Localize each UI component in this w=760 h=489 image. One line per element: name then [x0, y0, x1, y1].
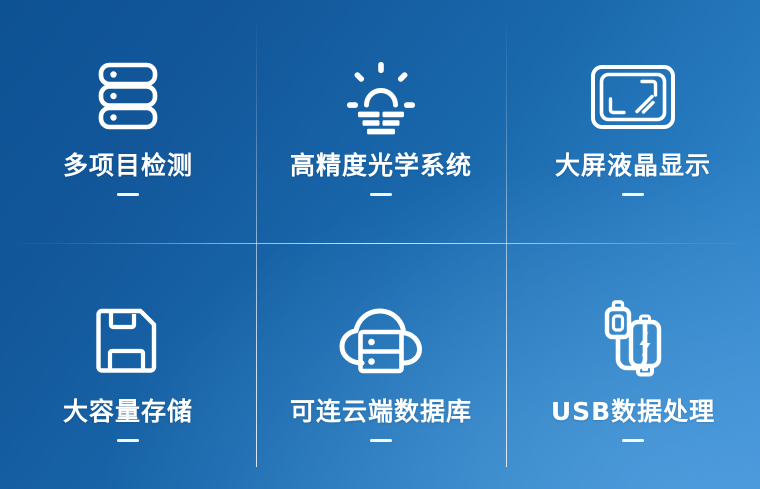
feature-underline [117, 439, 139, 442]
feature-label: 高精度光学系统 [290, 153, 472, 178]
feature-cell-cloud-database[interactable]: 可连云端数据库 [256, 243, 506, 489]
floppy-disk-icon [85, 297, 171, 383]
sun-optics-icon [338, 53, 424, 139]
cloud-database-icon [331, 297, 431, 383]
feature-banner: 多项目检测 [0, 0, 760, 489]
feature-underline [370, 193, 392, 196]
feature-cell-usb-data-processing[interactable]: USB数据处理 [506, 243, 760, 489]
monitor-screen-icon [585, 53, 681, 139]
feature-grid: 多项目检测 [0, 0, 760, 489]
server-stack-icon [85, 53, 171, 139]
feature-cell-high-precision-optics[interactable]: 高精度光学系统 [256, 0, 506, 243]
feature-underline [117, 193, 139, 196]
feature-underline [370, 439, 392, 442]
feature-label: USB数据处理 [551, 399, 715, 424]
usb-cable-icon [587, 297, 679, 383]
feature-label: 大容量存储 [63, 399, 193, 424]
feature-label: 大屏液晶显示 [555, 153, 711, 178]
feature-cell-multi-item-detection[interactable]: 多项目检测 [0, 0, 256, 243]
feature-underline [622, 193, 644, 196]
feature-underline [622, 439, 644, 442]
feature-label: 多项目检测 [63, 153, 193, 178]
feature-cell-large-lcd-display[interactable]: 大屏液晶显示 [506, 0, 760, 243]
feature-cell-large-capacity-storage[interactable]: 大容量存储 [0, 243, 256, 489]
feature-label: 可连云端数据库 [290, 399, 472, 424]
